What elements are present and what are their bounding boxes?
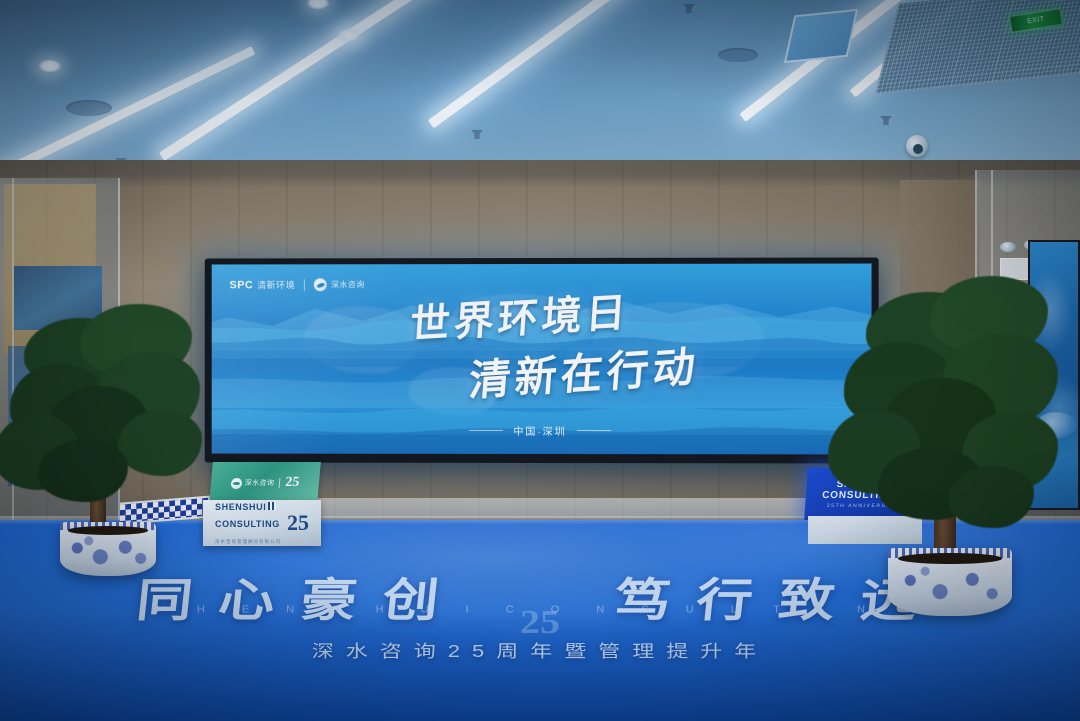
sprinkler-icon (683, 4, 695, 13)
ceiling: EXIT (0, 0, 1080, 185)
podium-left-base: SHENSHUI CONSULTING 深水咨询管理顾问有限公司 25 (203, 500, 321, 546)
ceiling-speaker-icon (66, 100, 112, 116)
strip-light-4 (739, 0, 942, 122)
porcelain-pot (888, 548, 1012, 616)
smoke-detector-icon (718, 48, 758, 62)
podium-left-top-anniversary: 25 (285, 475, 300, 491)
screen-logo-bar: SPC 清新环境 深水咨询 (230, 278, 365, 291)
potted-plant-left (8, 290, 208, 570)
spc-logo-mark: SPC (230, 279, 254, 291)
leaf-cluster (118, 410, 202, 476)
wall-skirting (238, 498, 808, 518)
shenshui-logo-icon (230, 478, 242, 489)
subtitle-rule-right (577, 430, 611, 431)
led-screen-content: SPC 清新环境 深水咨询 世界环境日 清新在行动 中国·深圳 (212, 264, 872, 455)
strip-light-3 (428, 0, 652, 128)
podium-left-logo: 深水咨询 (230, 478, 275, 489)
security-camera-icon (906, 135, 928, 157)
subtitle-rule-left (469, 430, 503, 431)
downlight-3 (306, 0, 330, 10)
pot-blue-pattern (888, 560, 1012, 610)
downlight-1 (38, 59, 62, 73)
shenshui-logo-chinese: 深水咨询 (331, 279, 365, 290)
porcelain-pot (60, 522, 156, 576)
spc-logo: SPC 清新环境 (230, 278, 296, 291)
sprinkler-icon (880, 116, 892, 125)
floor-subline: 深水咨询25周年暨管理提升年 (0, 638, 1080, 663)
podium-left-chinese: 深水咨询 (244, 478, 274, 488)
exit-sign: EXIT (1009, 8, 1063, 33)
pot-blue-pattern (60, 532, 156, 572)
podium-left-wordmark: SHENSHUI CONSULTING 深水咨询管理顾问有限公司 (215, 498, 281, 548)
spc-logo-chinese: 清新环境 (257, 278, 295, 291)
shenshui-logo-icon (314, 278, 327, 291)
strip-light-2 (159, 0, 441, 161)
logo-separator (304, 279, 305, 291)
podium-left-anniversary: 25 (287, 510, 309, 536)
leaf-cluster (948, 466, 1034, 528)
subtitle-text: 中国·深圳 (513, 423, 566, 438)
sprinkler-icon (471, 130, 483, 139)
podium-left-wordmark-line3: 深水咨询管理顾问有限公司 (215, 539, 281, 544)
floor-headline-left: 同心豪创 (134, 576, 467, 627)
lobby-scene: EXIT (0, 0, 1080, 721)
podium-left-wordmark-line1: SHENSHUI (215, 502, 266, 512)
hvac-grille (875, 0, 1080, 94)
leaf-cluster (38, 440, 128, 502)
ceiling-skylight-panel (784, 9, 858, 63)
led-video-wall: SPC 清新环境 深水咨询 世界环境日 清新在行动 中国·深圳 (205, 257, 879, 463)
exit-sign-label: EXIT (1010, 9, 1062, 32)
strip-light-5 (850, 0, 1017, 97)
podium-left-wordmark-line2: CONSULTING (215, 519, 280, 529)
potted-plant-right (838, 252, 1058, 604)
podium-left: 深水咨询 25 SHENSHUI CONSULTING 深水咨询管理顾问有限公司… (203, 462, 321, 546)
door-pull-icon[interactable] (1000, 242, 1016, 252)
shenshui-logo: 深水咨询 (314, 278, 365, 291)
podium-left-divider (279, 478, 281, 488)
screen-subtitle: 中国·深圳 (212, 423, 872, 439)
downlight-2 (337, 28, 361, 42)
logo-grid-icon (268, 502, 276, 510)
